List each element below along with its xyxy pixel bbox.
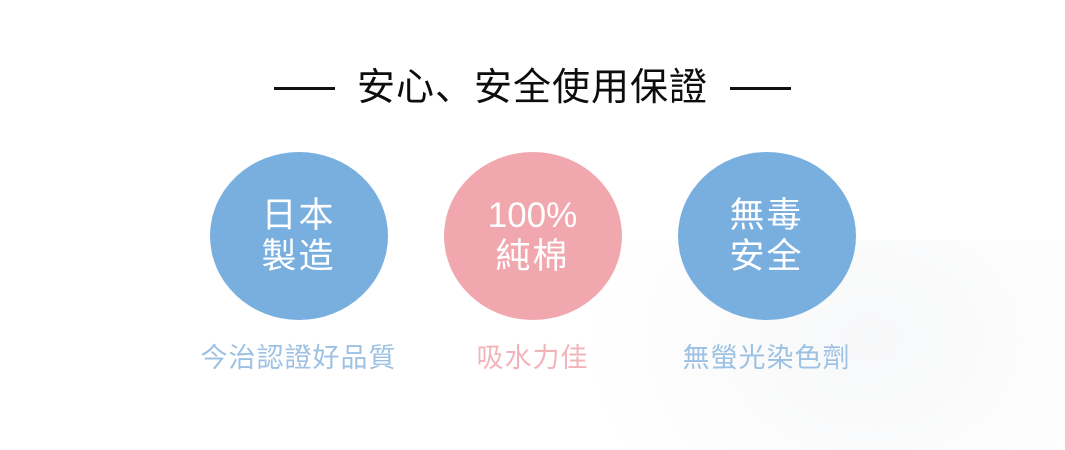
badge-circle-line-2: 純棉 — [495, 236, 569, 277]
promo-banner: 安心、安全使用保證 日本 製造 今治認證好品質 100% 純棉 吸水力佳 無毒 … — [0, 0, 1065, 450]
page-title: 安心、安全使用保證 — [357, 66, 708, 110]
badge-made-in-japan: 日本 製造 今治認證好品質 — [210, 152, 388, 374]
badge-circle-line-1: 日本 — [261, 195, 335, 236]
badge-circle-pure-cotton: 100% 純棉 — [444, 152, 622, 320]
badge-caption-non-toxic: 無螢光染色劑 — [683, 342, 851, 374]
badge-circle-line-2: 安全 — [729, 236, 803, 277]
badge-circle-line-1: 100% — [488, 195, 578, 236]
badge-row: 日本 製造 今治認證好品質 100% 純棉 吸水力佳 無毒 安全 無螢光染色劑 — [0, 152, 1065, 374]
badge-circle-non-toxic: 無毒 安全 — [678, 152, 856, 320]
badge-pure-cotton: 100% 純棉 吸水力佳 — [444, 152, 622, 374]
badge-circle-line-1: 無毒 — [729, 195, 803, 236]
badge-caption-pure-cotton: 吸水力佳 — [477, 342, 589, 374]
left-rule-icon — [274, 87, 335, 90]
badge-caption-made-in-japan: 今治認證好品質 — [201, 342, 397, 374]
badge-circle-made-in-japan: 日本 製造 — [210, 152, 388, 320]
badge-non-toxic: 無毒 安全 無螢光染色劑 — [678, 152, 856, 374]
right-rule-icon — [730, 87, 791, 90]
headline-group: 安心、安全使用保證 — [0, 66, 1065, 110]
badge-circle-line-2: 製造 — [261, 236, 335, 277]
